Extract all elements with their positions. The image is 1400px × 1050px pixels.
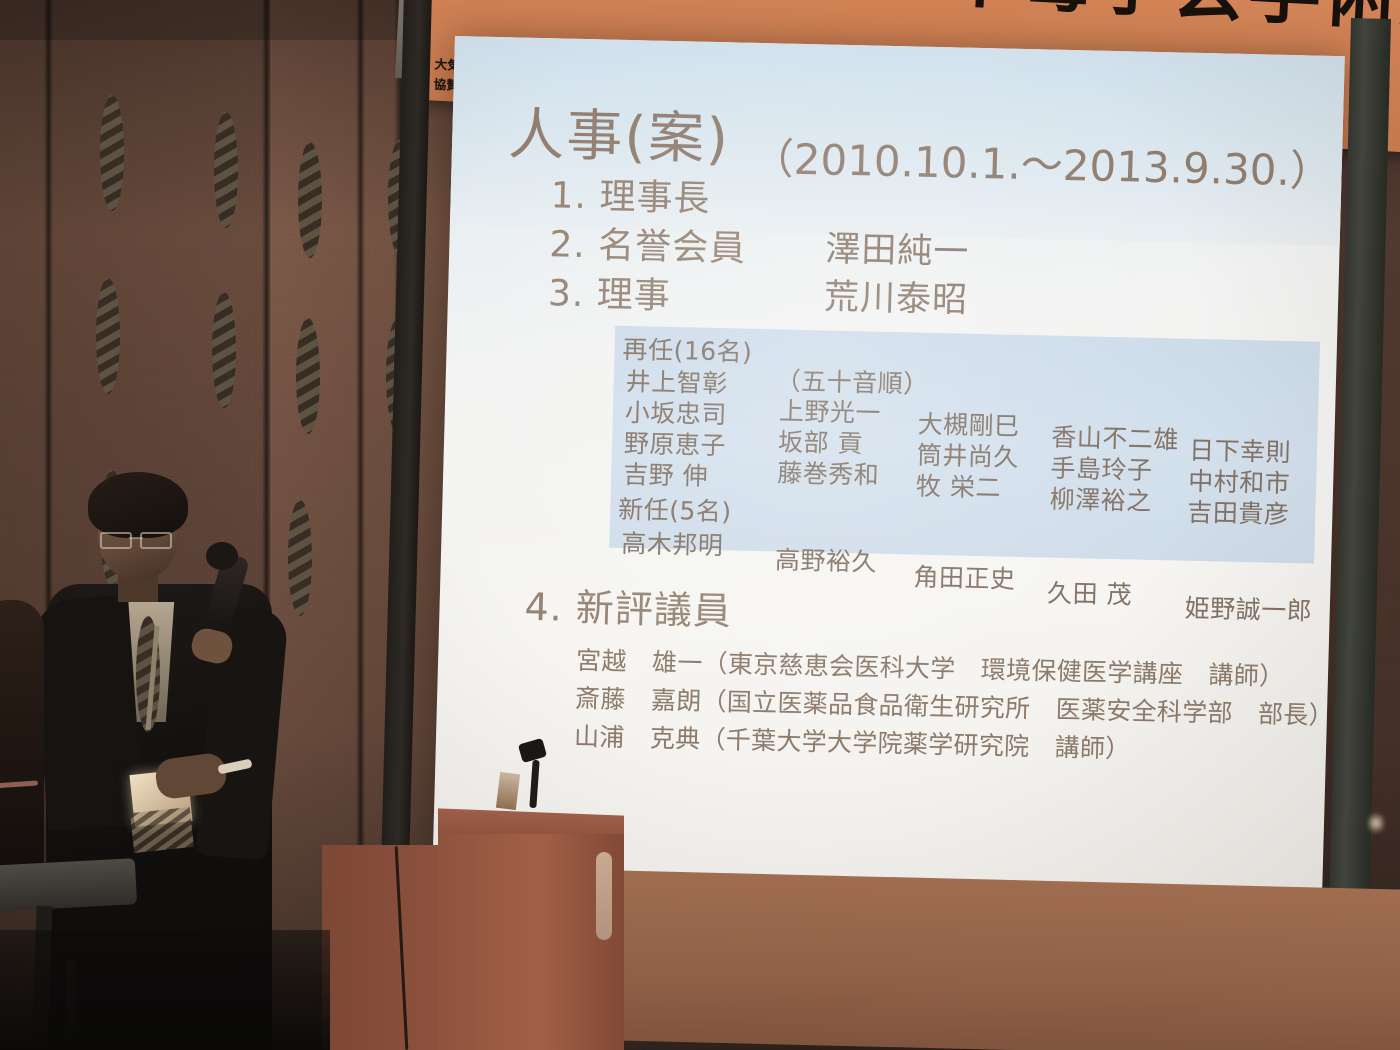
- slide-term-period: （2010.10.1.～2013.9.30.）: [751, 125, 1333, 199]
- microphone-head-icon: [206, 542, 238, 570]
- glasses-icon: [100, 532, 172, 545]
- form-tie-hole: [298, 142, 322, 258]
- form-tie-hole: [100, 95, 124, 211]
- table-cell: 藤巻秀和: [777, 453, 880, 491]
- form-tie-hole: [96, 278, 120, 394]
- table-cell: 吉野 伸: [623, 455, 709, 493]
- slide-item-1-label: 理事長: [599, 176, 711, 220]
- slide-item-3: 3. 理事: [547, 264, 671, 319]
- presenter-left-shoulder: [32, 595, 144, 831]
- slide-item-3-number: 3.: [548, 273, 585, 315]
- second-person-silhouette: [0, 600, 44, 900]
- slide-item-2-label: 名誉会員: [598, 225, 747, 269]
- presentation-slide: 人事(案) （2010.10.1.～2013.9.30.） 1. 理事長 2. …: [432, 36, 1345, 918]
- slide-title: 人事(案): [507, 89, 731, 175]
- chairman-name: 澤田純一: [825, 220, 970, 274]
- podium-handle-slot: [596, 852, 612, 940]
- slide-item-1-number: 1.: [550, 175, 587, 217]
- foreground-table: [0, 858, 137, 912]
- slide-item-1: 1. 理事長: [550, 166, 711, 222]
- table-cell: 柳澤裕之: [1049, 480, 1152, 518]
- new-member: 高野裕久: [774, 540, 877, 578]
- slide-item-3-label: 理事: [596, 274, 671, 317]
- conference-photo-scene: 中毒学会学術大会 大気環境学会健康影響分科会 会場 独立行政法人国立環境研究所 …: [0, 0, 1400, 1050]
- new-member: 姫野誠一郎: [1184, 589, 1312, 628]
- dark-floor: [0, 930, 330, 1050]
- projection-screen: 人事(案) （2010.10.1.～2013.9.30.） 1. 理事長 2. …: [432, 36, 1345, 918]
- table-cell: 吉田貴彦: [1187, 493, 1290, 531]
- banner-title-text: 中毒学会学術大会: [942, 0, 1400, 53]
- presenter-badge-stripe: [130, 807, 194, 853]
- presenter-hair: [88, 472, 188, 538]
- new-member: 久田 茂: [1047, 574, 1133, 612]
- section4-heading: 4. 新評議員: [524, 576, 733, 636]
- slide-item-2-number: 2.: [549, 224, 586, 266]
- honorary-member-name: 荒川泰昭: [823, 268, 968, 322]
- wall-below-screen: [620, 870, 1400, 1050]
- light-glint: [1368, 810, 1384, 836]
- form-tie-hole: [212, 292, 236, 408]
- new-member: 高木邦明: [621, 524, 724, 562]
- table-cell: 牧 栄二: [916, 467, 1002, 505]
- slide-item-2: 2. 名誉会員: [549, 215, 747, 271]
- new-member: 角田正史: [913, 558, 1016, 596]
- form-tie-hole: [296, 318, 320, 434]
- new-members-header: 新任(5名): [618, 490, 732, 529]
- podium-side-panel: [322, 845, 440, 1050]
- form-tie-hole: [214, 112, 238, 228]
- form-tie-hole: [288, 500, 312, 616]
